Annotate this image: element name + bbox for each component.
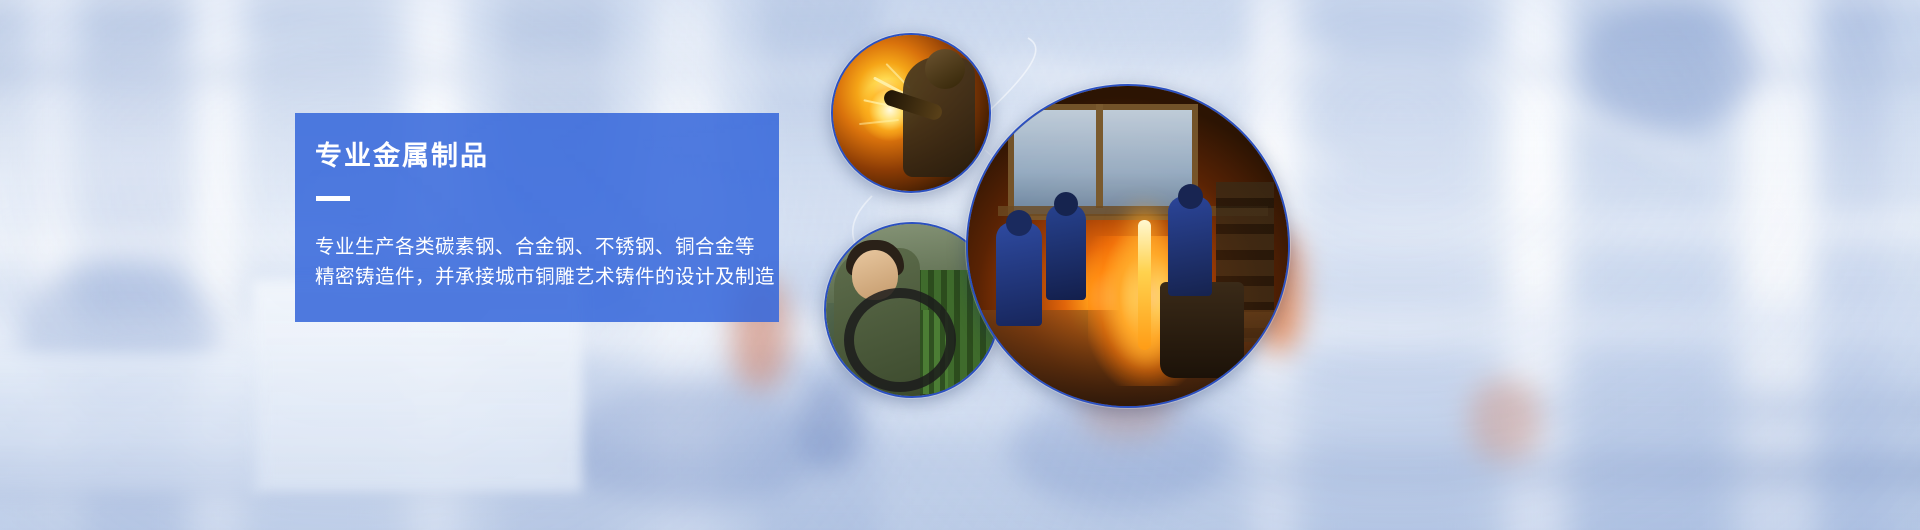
foundry-photo-inner — [968, 86, 1288, 406]
title-divider — [316, 196, 350, 201]
welding-photo-inner — [833, 35, 989, 191]
hero-banner: 专业金属制品 专业生产各类碳素钢、合金钢、不锈钢、铜合金等 精密铸造件，并承接城… — [0, 0, 1920, 530]
panel-description-line-2: 精密铸造件，并承接城市铜雕艺术铸件的设计及制造 — [315, 262, 779, 292]
foundry-photo-medallion — [966, 84, 1290, 408]
welding-photo-medallion — [831, 33, 991, 193]
panel-description-line-1: 专业生产各类碳素钢、合金钢、不锈钢、铜合金等 — [315, 232, 779, 262]
panel-title: 专业金属制品 — [315, 143, 779, 170]
promo-text-panel: 专业金属制品 专业生产各类碳素钢、合金钢、不锈钢、铜合金等 精密铸造件，并承接城… — [295, 113, 779, 322]
panel-description: 专业生产各类碳素钢、合金钢、不锈钢、铜合金等 精密铸造件，并承接城市铜雕艺术铸件… — [315, 232, 779, 292]
